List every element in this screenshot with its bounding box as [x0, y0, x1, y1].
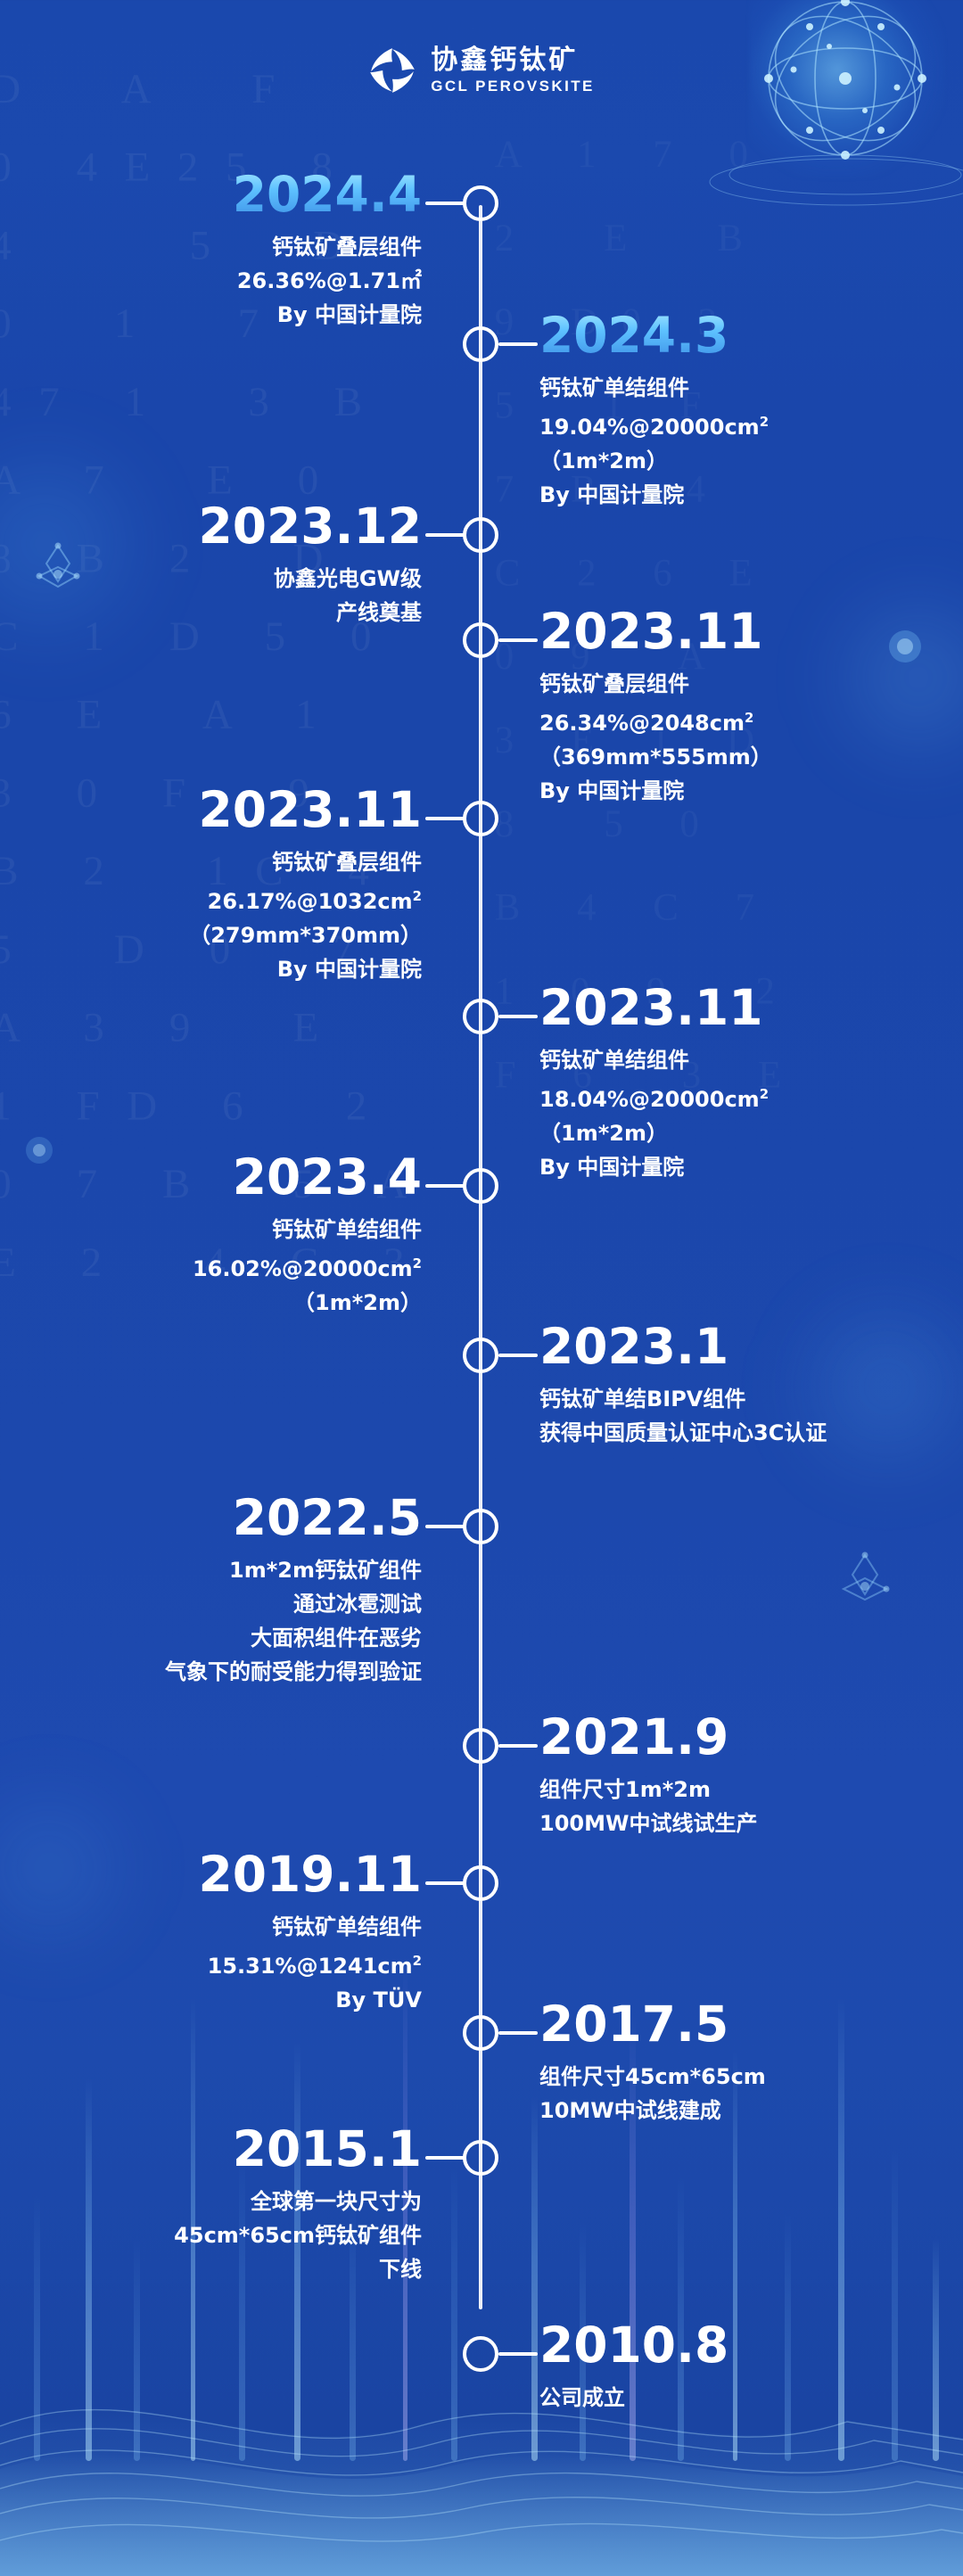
timeline-node[interactable] — [463, 1168, 498, 1204]
timeline-node[interactable] — [463, 999, 498, 1034]
timeline-year: 2023.4 — [36, 1152, 422, 1202]
timeline-year: 2022.5 — [36, 1493, 422, 1543]
timeline-entry: 2023.11钙钛矿叠层组件26.34%@2048cm2（369mm*555mm… — [539, 606, 927, 808]
timeline-connector — [498, 1015, 538, 1018]
timeline-node[interactable] — [463, 517, 498, 553]
timeline-year: 2021.9 — [539, 1712, 927, 1762]
timeline-description: 协鑫光电GW级产线奠基 — [36, 562, 422, 630]
timeline-description: 1m*2m钙钛矿组件通过冰雹测试大面积组件在恶劣气象下的耐受能力得到验证 — [36, 1553, 422, 1689]
timeline-connector — [498, 1744, 538, 1748]
timeline-description: 钙钛矿单结组件19.04%@20000cm2（1m*2m）By 中国计量院 — [539, 371, 927, 512]
timeline-description: 钙钛矿单结BIPV组件获得中国质量认证中心3C认证 — [539, 1382, 927, 1450]
timeline-node[interactable] — [463, 1728, 498, 1764]
timeline-connector — [425, 1525, 465, 1528]
timeline-entry: 2023.12协鑫光电GW级产线奠基 — [36, 501, 422, 630]
timeline-node[interactable] — [463, 622, 498, 658]
timeline-node[interactable] — [463, 2140, 498, 2176]
timeline-year: 2023.11 — [539, 606, 927, 656]
timeline-connector — [498, 2031, 538, 2035]
timeline-entry: 2023.4钙钛矿单结组件16.02%@20000cm2（1m*2m） — [36, 1152, 422, 1320]
timeline-entry: 2017.5组件尺寸45cm*65cm10MW中试线建成 — [539, 1999, 927, 2127]
timeline-entry: 2022.51m*2m钙钛矿组件通过冰雹测试大面积组件在恶劣气象下的耐受能力得到… — [36, 1493, 422, 1689]
brand-name-cn: 协鑫钙钛矿 — [431, 47, 594, 74]
timeline-connector — [498, 342, 538, 346]
timeline-entry: 2024.3钙钛矿单结组件19.04%@20000cm2（1m*2m）By 中国… — [539, 310, 927, 512]
timeline-description: 钙钛矿单结组件18.04%@20000cm2（1m*2m）By 中国计量院 — [539, 1043, 927, 1184]
timeline-entry: 2015.1全球第一块尺寸为45cm*65cm钙钛矿组件下线 — [36, 2124, 422, 2286]
timeline-entry: 2023.1钙钛矿单结BIPV组件获得中国质量认证中心3C认证 — [539, 1321, 927, 1450]
timeline-entry: 2024.4钙钛矿叠层组件26.36%@1.71㎡By 中国计量院 — [36, 169, 422, 332]
timeline-connector — [425, 2156, 465, 2160]
timeline-entry: 2021.9组件尺寸1m*2m100MW中试线试生产 — [539, 1712, 927, 1840]
timeline-description: 全球第一块尺寸为45cm*65cm钙钛矿组件下线 — [36, 2185, 422, 2286]
timeline: 2024.4钙钛矿叠层组件26.36%@1.71㎡By 中国计量院2024.3钙… — [0, 0, 963, 2576]
timeline-year: 2024.4 — [36, 169, 422, 219]
timeline-description: 钙钛矿叠层组件26.36%@1.71㎡By 中国计量院 — [36, 230, 422, 332]
timeline-year: 2019.11 — [36, 1849, 422, 1899]
timeline-year: 2023.11 — [36, 785, 422, 835]
timeline-description: 钙钛矿叠层组件26.17%@1032cm2（279mm*370mm）By 中国计… — [36, 845, 422, 986]
timeline-connector — [425, 817, 465, 820]
timeline-node[interactable] — [463, 185, 498, 221]
timeline-node[interactable] — [463, 326, 498, 362]
timeline-year: 2023.1 — [539, 1321, 927, 1371]
timeline-connector — [425, 202, 465, 205]
timeline-year: 2010.8 — [539, 2320, 927, 2370]
timeline-connector — [498, 638, 538, 642]
timeline-description: 钙钛矿叠层组件26.34%@2048cm2（369mm*555mm）By 中国计… — [539, 667, 927, 808]
timeline-connector — [425, 533, 465, 537]
timeline-year: 2017.5 — [539, 1999, 927, 2049]
timeline-entry: 2023.11钙钛矿单结组件18.04%@20000cm2（1m*2m）By 中… — [539, 983, 927, 1184]
timeline-connector — [425, 1184, 465, 1188]
timeline-node[interactable] — [463, 2015, 498, 2051]
timeline-description: 组件尺寸1m*2m100MW中试线试生产 — [539, 1773, 927, 1840]
timeline-connector — [498, 1354, 538, 1357]
timeline-node[interactable] — [463, 801, 498, 836]
timeline-node[interactable] — [463, 1337, 498, 1373]
brand-wordmark: 协鑫钙钛矿 GCL PEROVSKITE — [431, 47, 594, 94]
timeline-node[interactable] — [463, 2336, 498, 2372]
timeline-year: 2024.3 — [539, 310, 927, 360]
timeline-description: 公司成立 — [539, 2381, 927, 2415]
timeline-node[interactable] — [463, 1865, 498, 1901]
timeline-entry: 2010.8公司成立 — [539, 2320, 927, 2415]
timeline-description: 组件尺寸45cm*65cm10MW中试线建成 — [539, 2060, 927, 2127]
timeline-year: 2023.11 — [539, 983, 927, 1033]
timeline-entry: 2019.11钙钛矿单结组件15.31%@1241cm2By TÜV — [36, 1849, 422, 2017]
brand-header: 协鑫钙钛矿 GCL PEROVSKITE — [0, 46, 963, 95]
timeline-year: 2023.12 — [36, 501, 422, 551]
timeline-connector — [425, 1881, 465, 1885]
timeline-entry: 2023.11钙钛矿叠层组件26.17%@1032cm2（279mm*370mm… — [36, 785, 422, 986]
timeline-node[interactable] — [463, 1509, 498, 1544]
timeline-description: 钙钛矿单结组件16.02%@20000cm2（1m*2m） — [36, 1213, 422, 1320]
timeline-connector — [498, 2352, 538, 2356]
gcl-swirl-logo-icon — [368, 46, 416, 95]
timeline-description: 钙钛矿单结组件15.31%@1241cm2By TÜV — [36, 1910, 422, 2017]
brand-name-en: GCL PEROVSKITE — [431, 78, 594, 94]
timeline-year: 2015.1 — [36, 2124, 422, 2174]
